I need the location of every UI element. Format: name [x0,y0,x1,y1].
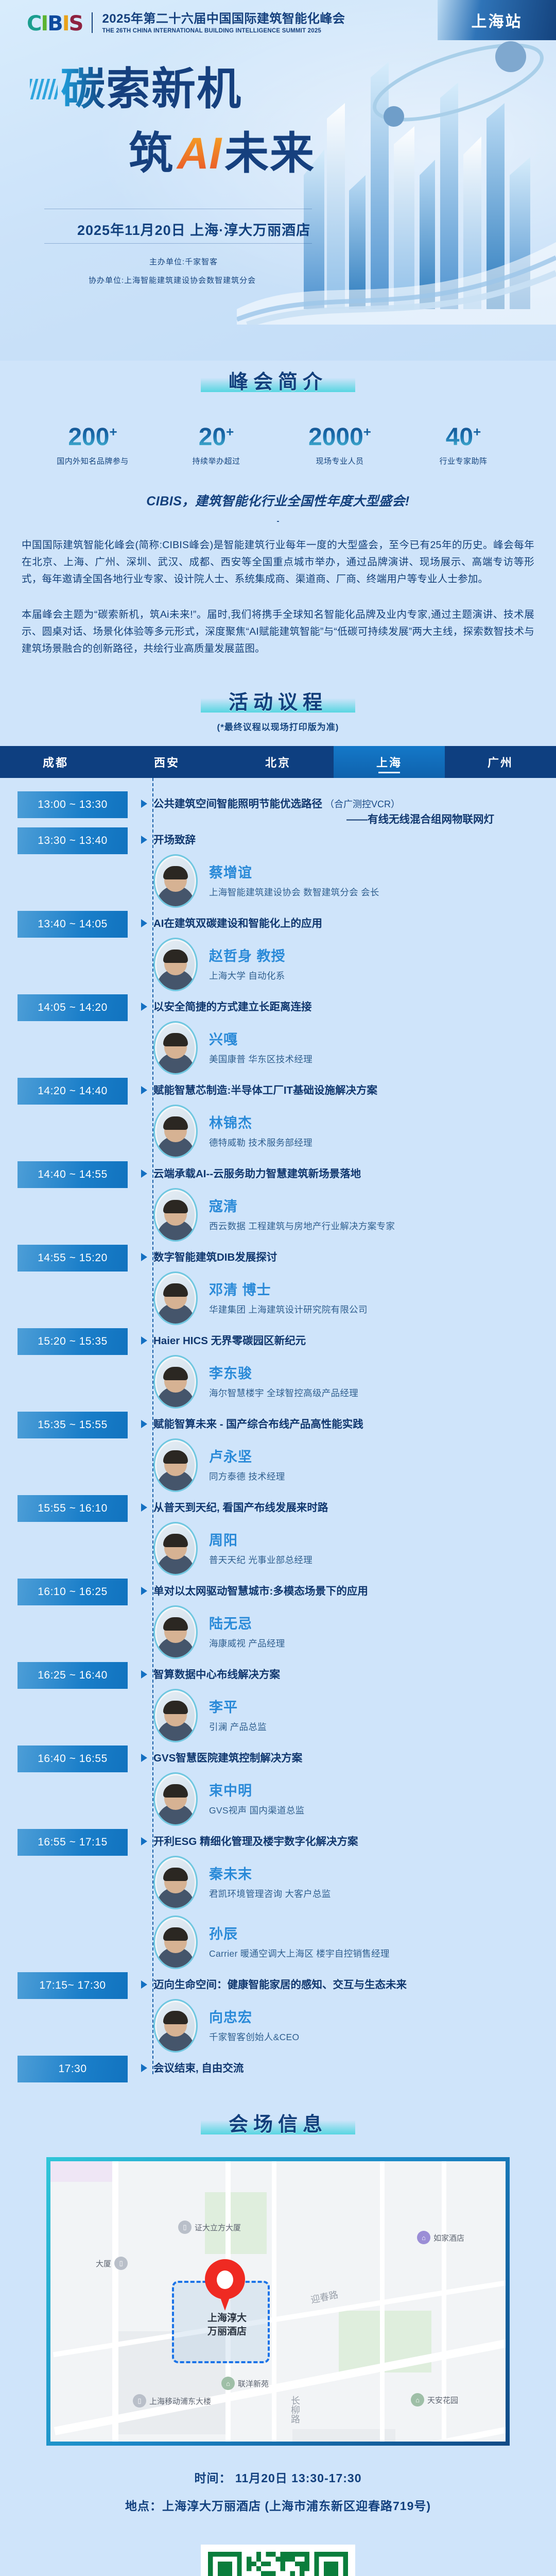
agenda-row: 16:40 ~ 16:55GVS智慧医院建筑控制解决方案束中明GVS视声 国内渠… [0,1745,556,1829]
speaker-role: 海康威视 产品经理 [209,1637,285,1650]
agenda-time-pill: 15:35 ~ 15:55 [18,1412,128,1438]
agenda-time-cell: 15:55 ~ 16:10 [0,1495,128,1522]
agenda-section-title: 活动议程 [201,686,355,715]
stat-item: 20+ 持续举办超过 [167,419,265,466]
agenda-time-cell: 13:40 ~ 14:05 [0,911,128,938]
agenda-topic-cell: 开利ESG 精细化管理及楼宇数字化解决方案秦未末君凯环境管理咨询 大客户总监孙辰… [128,1829,556,1972]
city-tab-label: 成都 [43,754,68,770]
agenda-time-cell: 13:30 ~ 13:40 [0,827,128,854]
speaker-info: 赵哲身 教授上海大学 自动化系 [209,947,286,982]
speaker-block: 秦未末君凯环境管理咨询 大客户总监 [153,1856,556,1909]
speaker-role: 千家智客创始人&CEO [209,2030,299,2043]
brand-header: C I B I S 2025年第二十六届中国国际建筑智能化峰会 THE 26TH… [27,11,345,34]
logo-letter-s: S [69,13,83,34]
speaker-info: 李平引澜 产品总监 [209,1699,267,1733]
stat-value: 40 [446,423,473,451]
speaker-block: 邓清 博士华建集团 上海建筑设计研究院有限公司 [153,1272,556,1325]
agenda-title-text: 活动议程 [201,686,355,715]
agenda-row: 15:55 ~ 16:10从普天到天纪, 看国产布线发展来时路周阳普天天纪 光事… [0,1495,556,1579]
poi-item: 大厦 ▯ [96,2257,128,2270]
agenda-topic-title: 赋能智慧芯制造:半导体工厂IT基础设施解决方案 [153,1083,556,1098]
agenda-topic-cell: GVS智慧医院建筑控制解决方案束中明GVS视声 国内渠道总监 [128,1745,556,1829]
agenda-row: 15:35 ~ 15:55赋能智算未来 - 国产综合布线产品高性能实践卢永坚同方… [0,1412,556,1495]
logo-letter-c: C [27,13,41,34]
venue-map-frame: ▯ 证大立方大厦 ⌂ 如家酒店 大厦 ▯ ⌂ 联洋新苑 ▯ 上海移动浦东大楼 [46,2157,510,2446]
agenda-topic-cell: 从普天到天纪, 看国产布线发展来时路周阳普天天纪 光事业部总经理 [128,1495,556,1579]
agenda-row: 14:55 ~ 15:20数字智能建筑DIB发展探讨邓清 博士华建集团 上海建筑… [0,1245,556,1328]
road-label-yingchun: 迎春路 [309,2287,339,2307]
poi-label: 上海移动浦东大楼 [149,2396,211,2406]
poi-label: 大厦 [96,2258,111,2269]
poi-label: 天安花园 [427,2395,458,2405]
stat-label: 行业专家助阵 [414,455,512,466]
agenda-time-cell: 14:05 ~ 14:20 [0,994,128,1021]
triangle-bullet-icon [141,1253,147,1261]
triangle-bullet-icon [141,1837,147,1845]
slogan1-char-a: 碳 [61,67,106,111]
agenda-time-cell: 16:55 ~ 17:15 [0,1829,128,1856]
speaker-info: 陆无忌海康威视 产品经理 [209,1615,285,1650]
speaker-name: 蔡增谊 [209,864,379,882]
poi-label: 联洋新苑 [238,2378,269,2389]
speaker-block: 林锦杰德特威勒 技术服务部经理 [153,1105,556,1158]
speaker-role: 美国康普 华东区技术经理 [209,1053,312,1065]
agenda-topic-title: 数字智能建筑DIB发展探讨 [153,1250,556,1265]
speaker-role: 君凯环境管理咨询 大客户总监 [209,1887,331,1900]
agenda-topic-cell: AI在建筑双碳建设和智能化上的应用赵哲身 教授上海大学 自动化系 [128,911,556,994]
speaker-name: 李东骏 [209,1365,358,1382]
city-tab-chengdu[interactable]: 成都 [0,746,111,778]
agenda-time-pill: 14:40 ~ 14:55 [18,1161,128,1188]
speaker-block: 卢永坚同方泰德 技术经理 [153,1438,556,1492]
triangle-bullet-icon [141,836,147,844]
agenda-row: 16:25 ~ 16:40智算数据中心布线解决方案李平引澜 产品总监 [0,1662,556,1745]
speaker-avatar [153,1916,198,1969]
agenda-time-cell: 17:30 [0,2056,128,2082]
stat-plus: + [473,424,481,439]
agenda-topic-cell: 会议结束, 自由交流 [128,2056,556,2076]
city-badge: 上海站 [438,0,556,40]
qr-code-box[interactable] [201,2545,355,2576]
stat-plus: + [226,424,234,439]
agenda-topic-title: 从普天到天纪, 看国产布线发展来时路 [153,1500,556,1516]
speaker-role: 西云数据 工程建筑与房地产行业解决方案专家 [209,1219,395,1232]
organizer-line: 主办单位:千家智客 [149,256,218,267]
speaker-info: 孙辰Carrier 暖通空调大上海区 楼宇自控销售经理 [209,1925,390,1960]
city-tab-bar[interactable]: 成都 西安 北京 上海 广州 [0,746,556,778]
agenda-topic-cell: 赋能智算未来 - 国产综合布线产品高性能实践卢永坚同方泰德 技术经理 [128,1412,556,1495]
stat-value: 20 [199,423,226,451]
triangle-bullet-icon [141,800,147,808]
speaker-name: 寇清 [209,1198,395,1215]
hero-banner: C I B I S 2025年第二十六届中国国际建筑智能化峰会 THE 26TH… [0,0,556,361]
agenda-row: 13:40 ~ 14:05AI在建筑双碳建设和智能化上的应用赵哲身 教授上海大学… [0,911,556,994]
speaker-name: 赵哲身 教授 [209,947,286,965]
slogan-line-2: 筑 AI 未来 [129,131,315,176]
agenda-topic-title: 会议结束, 自由交流 [153,2061,556,2076]
speaker-avatar [153,1605,198,1659]
speaker-name: 陆无忌 [209,1615,285,1633]
speaker-block: 李平引澜 产品总监 [153,1689,556,1742]
agenda-row: 16:55 ~ 17:15开利ESG 精细化管理及楼宇数字化解决方案秦未末君凯环… [0,1829,556,1972]
agenda-time-pill: 15:55 ~ 16:10 [18,1495,128,1522]
speaker-block: 寇清西云数据 工程建筑与房地产行业解决方案专家 [153,1188,556,1242]
slogan2-char-a: 筑 [129,131,174,176]
triangle-bullet-icon [141,1670,147,1679]
agenda-topic-title: 开利ESG 精细化管理及楼宇数字化解决方案 [153,1834,556,1850]
city-tab-label: 广州 [488,754,513,770]
speaker-avatar [153,1188,198,1242]
venue-section: 会场信息 ▯ 证大立方大厦 [0,2108,556,2514]
residence-icon: ⌂ [221,2377,235,2390]
agenda-time-pill: 17:30 [18,2056,128,2082]
agenda-time-pill: 16:55 ~ 17:15 [18,1829,128,1856]
agenda-time-pill: 16:10 ~ 16:25 [18,1579,128,1605]
speaker-name: 秦未末 [209,1866,331,1883]
speaker-name: 林锦杰 [209,1114,312,1132]
agenda-topic-title: 以安全简捷的方式建立长距离连接 [153,999,556,1015]
agenda-topic-title: 公共建筑空间智能照明节能优选路径 （合广测控VCR）——有线无线混合组网物联网灯 [153,796,556,827]
speaker-avatar [153,1355,198,1409]
map-pin-label: 上海淳大万丽酒店 [188,2312,266,2338]
speaker-name: 邓清 博士 [209,1281,368,1299]
logo-letter-i2: I [62,13,69,34]
stat-number: 40+ [414,419,512,450]
slogan-line-1: 碳 索新机 [30,67,242,111]
stat-item: 40+ 行业专家助阵 [414,419,512,466]
speaker-block: 向忠宏千家智客创始人&CEO [153,1999,556,2053]
poi-label: 证大立方大厦 [195,2222,241,2233]
agenda-topic-title: 智算数据中心布线解决方案 [153,1667,556,1683]
road-label-changliu: 长柳路 [288,2396,302,2424]
venue-title-text: 会场信息 [201,2108,355,2137]
agenda-topic-cell: 赋能智慧芯制造:半导体工厂IT基础设施解决方案林锦杰德特威勒 技术服务部经理 [128,1078,556,1161]
agenda-time-cell: 14:40 ~ 14:55 [0,1161,128,1188]
agenda-time-cell: 13:00 ~ 13:30 [0,791,128,818]
agenda-topic-cell: 开场致辞蔡增谊上海智能建筑建设协会 数智建筑分会 会长 [128,827,556,911]
intro-paragraph-2: 本届峰会主题为“碳索新机，筑Ai未来!”。届时,我们将携手全球知名智能化品牌及业… [22,606,534,657]
agenda-topic-cell: 数字智能建筑DIB发展探讨邓清 博士华建集团 上海建筑设计研究院有限公司 [128,1245,556,1328]
agenda-time-cell: 15:35 ~ 15:55 [0,1412,128,1438]
speaker-info: 邓清 博士华建集团 上海建筑设计研究院有限公司 [209,1281,368,1316]
speaker-avatar [153,1272,198,1325]
agenda-topic-title: 单对以太网驱动智慧城市:多模态场景下的应用 [153,1584,556,1599]
agenda-topic-title: 开场致辞 [153,833,556,848]
city-tab-label: 上海 [376,754,402,770]
agenda-time-pill: 13:40 ~ 14:05 [18,911,128,938]
speaker-info: 卢永坚同方泰德 技术经理 [209,1448,285,1483]
stat-number: 200+ [44,419,142,450]
city-badge-label: 上海站 [472,9,523,31]
city-tab-beijing[interactable]: 北京 [222,746,334,778]
triangle-bullet-icon [141,1503,147,1512]
summit-title-cn: 2025年第二十六届中国国际建筑智能化峰会 [102,12,345,26]
agenda-row: 14:40 ~ 14:55云端承载AI--云服务助力智慧建筑新场景落地寇清西云数… [0,1161,556,1245]
agenda-time-cell: 16:25 ~ 16:40 [0,1662,128,1689]
speaker-name: 孙辰 [209,1925,390,1943]
speaker-info: 蔡增谊上海智能建筑建设协会 数智建筑分会 会长 [209,864,379,899]
stat-label: 持续举办超过 [167,455,265,466]
event-date-venue: 2025年11月20日 上海·淳大万丽酒店 [77,219,310,239]
speaker-name: 向忠宏 [209,2009,299,2026]
speaker-name: 兴嘎 [209,1031,312,1048]
intro-headline: CIBIS，建筑智能化行业全国性年度大型盛会! [0,491,556,510]
intro-section: 峰会简介 200+ 国内外知名品牌参与 20+ 持续举办超过 2000+ 现场专… [0,366,556,657]
map-pin-icon [205,2259,245,2311]
stat-label: 现场专业人员 [291,455,389,466]
speaker-role: 普天天纪 光事业部总经理 [209,1553,312,1566]
speaker-avatar [153,854,198,908]
meta-divider-top [44,209,312,209]
speaker-role: 同方泰德 技术经理 [209,1470,285,1483]
logo-letter-b: B [47,13,62,34]
agenda-row: 14:20 ~ 14:40赋能智慧芯制造:半导体工厂IT基础设施解决方案林锦杰德… [0,1078,556,1161]
agenda-topic-title: 迈向生命空间：健康智能家居的感知、交互与生态未来 [153,1977,556,1993]
speaker-info: 秦未末君凯环境管理咨询 大客户总监 [209,1866,331,1900]
speaker-avatar [153,1438,198,1492]
poi-item: ▯ 上海移动浦东大楼 [133,2394,211,2408]
qr-code-icon[interactable] [208,2552,348,2576]
agenda-row: 17:30会议结束, 自由交流 [0,2056,556,2082]
triangle-bullet-icon [141,1754,147,1762]
stat-value: 2000 [308,423,363,451]
agenda-list: 13:00 ~ 13:30公共建筑空间智能照明节能优选路径 （合广测控VCR）—… [0,778,556,2088]
city-tab-shanghai[interactable]: 上海 [334,746,445,778]
agenda-topic-subline: ——有线无线混合组网物联网灯 [153,812,556,827]
logo-letter-i: I [41,13,47,34]
poi-item: ⌂ 联洋新苑 [221,2377,269,2390]
intro-paragraph-1: 中国国际建筑智能化峰会(简称:CIBIS峰会)是智能建筑行业每年一度的大型盛会，… [22,537,534,588]
city-tab-label: 北京 [265,754,291,770]
speaker-role: 上海智能建筑建设协会 数智建筑分会 会长 [209,886,379,899]
speaker-info: 向忠宏千家智客创始人&CEO [209,2009,299,2043]
triangle-bullet-icon [141,1587,147,1595]
stats-row: 200+ 国内外知名品牌参与 20+ 持续举办超过 2000+ 现场专业人员 4… [0,419,556,466]
stat-plus: + [109,424,117,439]
speaker-block: 束中明GVS视声 国内渠道总监 [153,1772,556,1826]
triangle-bullet-icon [141,1336,147,1345]
speaker-avatar [153,1772,198,1826]
speaker-role: 上海大学 自动化系 [209,969,286,982]
stat-item: 200+ 国内外知名品牌参与 [44,419,142,466]
speaker-info: 李东骏海尔智慧楼宇 全球智控高级产品经理 [209,1365,358,1399]
speaker-block: 赵哲身 教授上海大学 自动化系 [153,938,556,991]
speaker-role: Carrier 暖通空调大上海区 楼宇自控销售经理 [209,1947,390,1960]
agenda-subtitle: (*最终议程以现场打印版为准) [0,720,556,733]
agenda-topic-note: （合广测控VCR） [322,799,400,809]
agenda-topic-cell: Haier HICS 无界零碳园区新纪元李东骏海尔智慧楼宇 全球智控高级产品经理 [128,1328,556,1412]
speaker-role: 海尔智慧楼宇 全球智控高级产品经理 [209,1386,358,1399]
speaker-block: 兴嘎美国康普 华东区技术经理 [153,1021,556,1075]
slogan2-ai: AI [174,131,224,176]
agenda-topic-cell: 以安全简捷的方式建立长距离连接兴嘎美国康普 华东区技术经理 [128,994,556,1078]
stat-plus: + [363,424,371,439]
triangle-bullet-icon [141,1170,147,1178]
slogan2-char-b: 未来 [224,131,315,176]
venue-map[interactable]: ▯ 证大立方大厦 ⌂ 如家酒店 大厦 ▯ ⌂ 联洋新苑 ▯ 上海移动浦东大楼 [50,2161,506,2442]
agenda-row: 13:30 ~ 13:40开场致辞蔡增谊上海智能建筑建设协会 数智建筑分会 会长 [0,827,556,911]
agenda-time-cell: 15:20 ~ 15:35 [0,1328,128,1355]
agenda-row: 14:05 ~ 14:20以安全简捷的方式建立长距离连接兴嘎美国康普 华东区技术… [0,994,556,1078]
agenda-row: 15:20 ~ 15:35Haier HICS 无界零碳园区新纪元李东骏海尔智慧… [0,1328,556,1412]
agenda-time-pill: 14:05 ~ 14:20 [18,994,128,1021]
agenda-topic-cell: 智算数据中心布线解决方案李平引澜 产品总监 [128,1662,556,1745]
city-tab-xian[interactable]: 西安 [111,746,222,778]
speaker-avatar [153,1522,198,1575]
agenda-time-pill: 14:20 ~ 14:40 [18,1078,128,1105]
intro-section-title: 峰会简介 [201,366,355,394]
speaker-info: 林锦杰德特威勒 技术服务部经理 [209,1114,312,1149]
speaker-name: 卢永坚 [209,1448,285,1466]
cibis-logo: C I B I S [27,11,82,34]
agenda-topic-cell: 公共建筑空间智能照明节能优选路径 （合广测控VCR）——有线无线混合组网物联网灯 [128,791,556,827]
speaker-block: 李东骏海尔智慧楼宇 全球智控高级产品经理 [153,1355,556,1409]
speaker-avatar [153,1105,198,1158]
speaker-role: 引澜 产品总监 [209,1720,267,1733]
intro-divider-dash: - [0,517,556,526]
building-icon: ▯ [133,2394,146,2408]
triangle-bullet-icon [141,1086,147,1094]
agenda-row: 13:00 ~ 13:30公共建筑空间智能照明节能优选路径 （合广测控VCR）—… [0,791,556,827]
venue-address-line: 地点：上海淳大万丽酒店 (上海市浦东新区迎春路719号) [0,2496,556,2514]
hash-stripes-decor [30,79,58,99]
stat-label: 国内外知名品牌参与 [44,455,142,466]
agenda-topic-cell: 云端承载AI--云服务助力智慧建筑新场景落地寇清西云数据 工程建筑与房地产行业解… [128,1161,556,1245]
agenda-time-pill: 15:20 ~ 15:35 [18,1328,128,1355]
hotel-icon: ⌂ [417,2231,430,2244]
agenda-row: 17:15~ 17:30迈向生命空间：健康智能家居的感知、交互与生态未来向忠宏千… [0,1972,556,2056]
speaker-role: 德特威勒 技术服务部经理 [209,1136,312,1149]
agenda-time-cell: 17:15~ 17:30 [0,1972,128,1999]
speaker-info: 兴嘎美国康普 华东区技术经理 [209,1031,312,1065]
agenda-time-pill: 14:55 ~ 15:20 [18,1245,128,1272]
speaker-name: 束中明 [209,1782,304,1800]
building-icon: ▯ [114,2257,128,2270]
meta-divider-bottom [44,243,312,244]
agenda-time-pill: 17:15~ 17:30 [18,1972,128,1999]
speaker-info: 束中明GVS视声 国内渠道总监 [209,1782,304,1817]
speaker-info: 寇清西云数据 工程建筑与房地产行业解决方案专家 [209,1198,395,1232]
stat-number: 2000+ [291,419,389,450]
speaker-block: 周阳普天天纪 光事业部总经理 [153,1522,556,1575]
agenda-topic-title: 赋能智算未来 - 国产综合布线产品高性能实践 [153,1417,556,1432]
speaker-role: GVS视声 国内渠道总监 [209,1804,304,1817]
venue-time-line: 时间： 11月20日 13:30-17:30 [0,2468,556,2486]
triangle-bullet-icon [141,2064,147,2072]
speaker-avatar [153,1856,198,1909]
speaker-block: 孙辰Carrier 暖通空调大上海区 楼宇自控销售经理 [153,1916,556,1969]
stat-value: 200 [68,423,109,451]
agenda-row: 16:10 ~ 16:25单对以太网驱动智慧城市:多模态场景下的应用陆无忌海康威… [0,1579,556,1662]
agenda-time-cell: 16:10 ~ 16:25 [0,1579,128,1605]
header-divider [92,12,93,33]
wave-illustration [237,191,556,325]
triangle-bullet-icon [141,1003,147,1011]
agenda-topic-title: 云端承载AI--云服务助力智慧建筑新场景落地 [153,1166,556,1182]
poster-page: C I B I S 2025年第二十六届中国国际建筑智能化峰会 THE 26TH… [0,0,556,2576]
summit-title-en: THE 26TH CHINA INTERNATIONAL BUILDING IN… [102,28,345,34]
city-tab-label: 西安 [154,754,180,770]
speaker-info: 周阳普天天纪 光事业部总经理 [209,1532,312,1566]
stat-item: 2000+ 现场专业人员 [291,419,389,466]
poi-label: 如家酒店 [433,2232,464,2243]
venue-section-title: 会场信息 [201,2108,355,2137]
agenda-topic-title: GVS智慧医院建筑控制解决方案 [153,1751,556,1766]
speaker-block: 蔡增谊上海智能建筑建设协会 数智建筑分会 会长 [153,854,556,908]
speaker-avatar [153,1689,198,1742]
residence-icon: ⌂ [411,2393,424,2406]
agenda-topic-cell: 单对以太网驱动智慧城市:多模态场景下的应用陆无忌海康威视 产品经理 [128,1579,556,1662]
slogan1-char-b: 索新机 [106,67,242,111]
agenda-topic-title: Haier HICS 无界零碳园区新纪元 [153,1333,556,1349]
agenda-time-pill: 13:30 ~ 13:40 [18,827,128,854]
agenda-time-cell: 14:20 ~ 14:40 [0,1078,128,1105]
poi-item: ⌂ 天安花园 [411,2393,458,2406]
speaker-avatar [153,1999,198,2053]
agenda-topic-title: AI在建筑双碳建设和智能化上的应用 [153,916,556,931]
speaker-avatar [153,1021,198,1075]
agenda-time-pill: 16:40 ~ 16:55 [18,1745,128,1772]
speaker-name: 李平 [209,1699,267,1716]
stat-number: 20+ [167,419,265,450]
intro-title-text: 峰会简介 [201,366,355,394]
city-tab-guangzhou[interactable]: 广州 [445,746,556,778]
agenda-section: 活动议程 (*最终议程以现场打印版为准) 成都 西安 北京 上海 广州 13:0… [0,686,556,2088]
speaker-name: 周阳 [209,1532,312,1549]
poi-item: ▯ 证大立方大厦 [178,2221,241,2234]
agenda-time-pill: 13:00 ~ 13:30 [18,791,128,818]
triangle-bullet-icon [141,1420,147,1428]
building-icon: ▯ [178,2221,192,2234]
poi-item: ⌂ 如家酒店 [417,2231,464,2244]
agenda-topic-cell: 迈向生命空间：健康智能家居的感知、交互与生态未来向忠宏千家智客创始人&CEO [128,1972,556,2056]
agenda-time-pill: 16:25 ~ 16:40 [18,1662,128,1689]
speaker-role: 华建集团 上海建筑设计研究院有限公司 [209,1303,368,1316]
speaker-block: 陆无忌海康威视 产品经理 [153,1605,556,1659]
co-organizer-line: 协办单位:上海智能建筑建设协会数智建筑分会 [89,275,256,285]
triangle-bullet-icon [141,919,147,927]
agenda-time-cell: 16:40 ~ 16:55 [0,1745,128,1772]
agenda-time-cell: 14:55 ~ 15:20 [0,1245,128,1272]
speaker-avatar [153,938,198,991]
triangle-bullet-icon [141,1980,147,1989]
